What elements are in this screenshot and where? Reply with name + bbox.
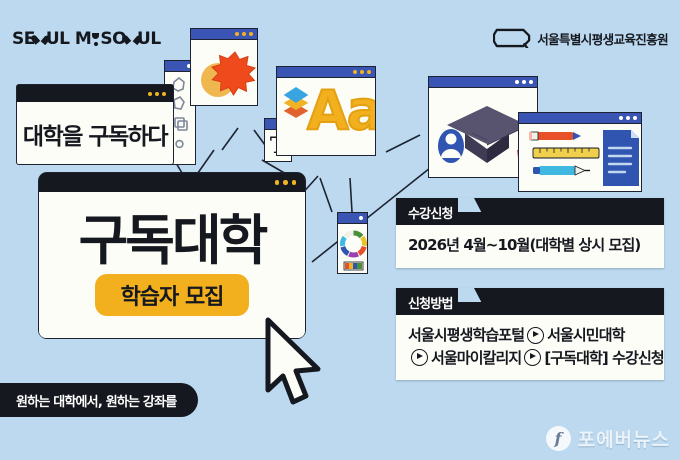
watermark-text: 포에버뉴스	[578, 425, 670, 452]
subtitle-card: 대학을 구독하다	[16, 84, 174, 165]
graduation-card-titlebar	[429, 77, 537, 88]
tagline-text: 원하는 대학에서, 원하는 강좌를	[16, 391, 176, 410]
panel-apply-body: 2026년 4월~10월(대학별 상시 모집)	[396, 225, 664, 268]
poster-root: SE UL M SO UL 서울특별시평생교육진흥원	[0, 0, 680, 460]
window-dot	[148, 92, 152, 96]
window-dot	[633, 116, 637, 120]
window-dot	[162, 92, 166, 96]
panel-apply-tab-label: 수강신청	[408, 203, 453, 222]
institute-name: 서울특별시평생교육진흥원	[537, 29, 668, 48]
watermark-logo-icon: f	[546, 426, 571, 451]
main-card-titlebar	[39, 173, 305, 192]
tagline-pill: 원하는 대학에서, 원하는 강좌를	[0, 383, 198, 417]
panel-apply: 수강신청 2026년 4월~10월(대학별 상시 모집)	[396, 198, 664, 268]
mycollege-name: 서울마이칼리지	[431, 347, 521, 370]
main-title: 구독대학	[79, 214, 266, 268]
typography-card: Aa	[276, 66, 376, 156]
subtitle-card-titlebar	[17, 85, 173, 102]
subtitle-text: 대학을 구독하다	[23, 117, 167, 151]
play-arrow-icon	[527, 327, 544, 344]
speech-bubble-icon	[493, 28, 531, 48]
play-arrow-icon	[524, 349, 541, 366]
document-stationery-icon	[519, 124, 641, 191]
panel-how-tab-label: 신청방법	[408, 293, 453, 312]
window-dot	[515, 80, 519, 84]
window-dot	[242, 32, 246, 36]
mouse-cursor-icon	[262, 316, 324, 408]
play-arrow-icon	[411, 349, 428, 366]
window-dot	[522, 80, 526, 84]
panel-how-line2: 서울마이칼리지 [구독대학] 수강신청	[408, 347, 652, 370]
typography-card-titlebar	[277, 67, 375, 78]
recruit-badge-label: 학습자 모집	[121, 285, 224, 310]
panel-how-line1: 서울시평생학습포털 서울시민대학	[408, 324, 652, 347]
panel-apply-tab: 수강신청	[396, 198, 664, 225]
panel-apply-line1: 2026년 4월~10월(대학별 상시 모집)	[408, 234, 652, 257]
seoul-my-soul-logo: SE UL M SO UL	[12, 31, 161, 48]
window-dot	[275, 180, 280, 185]
graphics-card-titlebar	[191, 29, 257, 40]
starburst-circle-icon	[191, 40, 257, 105]
heart-o-icon-2	[126, 33, 137, 46]
subscription-apply-name: [구독대학] 수강신청	[544, 347, 663, 370]
main-title-card: 구독대학 학습자 모집	[38, 172, 306, 339]
Aa-letters-icon: Aa	[307, 84, 375, 138]
heart-o-icon	[35, 33, 46, 46]
citizen-university-name: 서울시민대학	[547, 324, 624, 347]
document-card	[518, 112, 642, 192]
document-card-titlebar	[519, 113, 641, 124]
window-dot	[249, 32, 253, 36]
window-dot	[235, 32, 239, 36]
graphics-card-body	[191, 40, 257, 105]
portal-name: 서울시평생학습포털	[408, 324, 524, 347]
window-dot	[283, 180, 288, 185]
color-wheel-card	[337, 212, 368, 274]
panel-how-body: 서울시평생학습포털 서울시민대학 서울마이칼리지 [구독대학] 수강신청	[396, 315, 664, 380]
graphics-card	[190, 28, 258, 106]
color-card-titlebar	[338, 213, 367, 224]
window-dot	[359, 216, 363, 220]
subtitle-card-body: 대학을 구독하다	[17, 102, 173, 166]
window-dot	[292, 180, 297, 185]
window-dot	[367, 70, 371, 74]
seoul-logo-part2: UL M	[46, 31, 91, 48]
window-dot	[529, 80, 533, 84]
panel-how: 신청방법 서울시평생학습포털 서울시민대학 서울마이칼리지 [구독대학] 수강신…	[396, 288, 664, 380]
recruit-badge: 학습자 모집	[95, 274, 250, 316]
institute-logo: 서울특별시평생교육진흥원	[493, 28, 668, 48]
watermark: f 포에버뉴스	[546, 425, 670, 452]
window-dot	[360, 70, 364, 74]
color-card-body	[338, 224, 367, 273]
window-dot	[155, 92, 159, 96]
window-dot	[353, 70, 357, 74]
window-dot	[619, 116, 623, 120]
panel-how-tab: 신청방법	[396, 288, 664, 315]
panel-apply-tab-bar	[458, 212, 664, 225]
window-dot	[626, 116, 630, 120]
exclamation-y-icon	[91, 33, 100, 46]
document-card-body	[519, 124, 641, 191]
color-wheel-icon	[338, 224, 367, 273]
typography-card-body: Aa	[277, 78, 375, 155]
panel-how-tab-bar	[458, 302, 664, 315]
